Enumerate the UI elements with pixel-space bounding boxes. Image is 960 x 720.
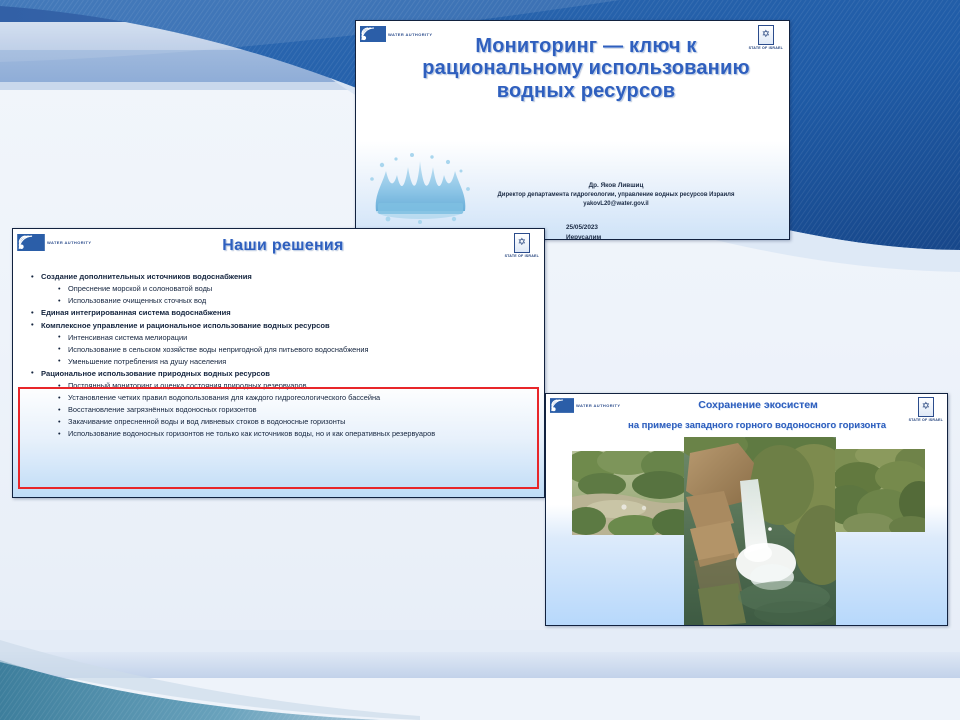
sub-bullet-item: Опреснение морской и солоноватой воды <box>55 283 532 295</box>
bullet-text: Рациональное использование природных вод… <box>41 369 270 378</box>
presentation-date: 25/05/2023 <box>566 223 601 233</box>
bullet-level1-list: Создание дополнительных источников водос… <box>27 271 532 440</box>
water-authority-logo: WATER AUTHORITY <box>17 234 91 251</box>
water-wave-icon <box>550 398 574 413</box>
slide1-author-block: Др. Яков Лившиц Директор департамента ги… <box>451 181 781 209</box>
slide-our-solutions[interactable]: WATER AUTHORITY ✡ STATE OF ISRAEL Наши р… <box>12 228 545 498</box>
sub-bullet-item: Постоянный мониторинг и оценка состояния… <box>55 380 532 392</box>
author-role: Директор департамента гидрогеологии, упр… <box>451 191 781 200</box>
bullet-text: Единая интегрированная система водоснабж… <box>41 308 231 317</box>
author-name: Др. Яков Лившиц <box>451 181 781 191</box>
bullet-item: Создание дополнительных источников водос… <box>27 271 532 307</box>
photo-riparian-shrubs <box>835 449 925 532</box>
presentation-place: Иерусалим <box>566 233 601 240</box>
state-of-israel-emblem: ✡ STATE OF ISRAEL <box>505 233 539 258</box>
slide2-bullet-list: Создание дополнительных источников водос… <box>27 271 532 440</box>
author-email: yakovL20@water.gov.il <box>451 200 781 209</box>
sub-bullet-item: Восстановление загрязнённых водоносных г… <box>55 404 532 416</box>
slide3-subtitle: на примере западного горного водоносного… <box>566 420 948 431</box>
sub-bullet-item: Установление четких правил водопользован… <box>55 392 532 404</box>
slide3-title: Сохранение экосистем <box>588 400 928 412</box>
bullet-item: Комплексное управление и рациональное ис… <box>27 320 532 368</box>
bullet-item: Единая интегрированная система водоснабж… <box>27 307 532 319</box>
bullet-level2-list: Интенсивная система мелиорации Использов… <box>41 332 532 368</box>
slide-ecosystem-preservation[interactable]: WATER AUTHORITY ✡ STATE OF ISRAEL Сохран… <box>545 393 948 626</box>
sub-bullet-item: Использование в сельском хозяйстве воды … <box>55 344 532 356</box>
bullet-level2-list: Опреснение морской и солоноватой воды Ис… <box>41 283 532 307</box>
sub-bullet-item: Уменьшение потребления на душу населения <box>55 356 532 368</box>
photo-waterfall-spring-pool <box>684 437 836 626</box>
slide2-title: Наши решения <box>133 237 433 255</box>
sub-bullet-item: Интенсивная система мелиорации <box>55 332 532 344</box>
photo-dry-riverbed-vegetation <box>572 451 687 535</box>
bullet-text: Создание дополнительных источников водос… <box>41 272 252 281</box>
bullet-text: Комплексное управление и рациональное ис… <box>41 321 330 330</box>
logo-text: WATER AUTHORITY <box>47 240 91 245</box>
bullet-level2-list: Постоянный мониторинг и оценка состояния… <box>41 380 532 440</box>
sub-bullet-item: Использование водоносных горизонтов не т… <box>55 428 532 440</box>
water-wave-icon <box>17 234 45 251</box>
emblem-caption: STATE OF ISRAEL <box>505 254 539 258</box>
slide-title[interactable]: WATER AUTHORITY ✡ STATE OF ISRAEL Монито… <box>355 20 790 240</box>
water-wave-icon <box>360 26 386 42</box>
sub-bullet-item: Закачивание опресненной воды и вод ливне… <box>55 416 532 428</box>
sub-bullet-item: Использование очищенных сточных вод <box>55 295 532 307</box>
bullet-item-highlighted: Рациональное использование природных вод… <box>27 368 532 440</box>
slide1-title: Мониторинг — ключ к рациональному исполь… <box>411 35 761 102</box>
slide1-date-block: 25/05/2023 Иерусалим <box>566 223 601 240</box>
emblem-glyph: ✡ <box>514 233 530 253</box>
